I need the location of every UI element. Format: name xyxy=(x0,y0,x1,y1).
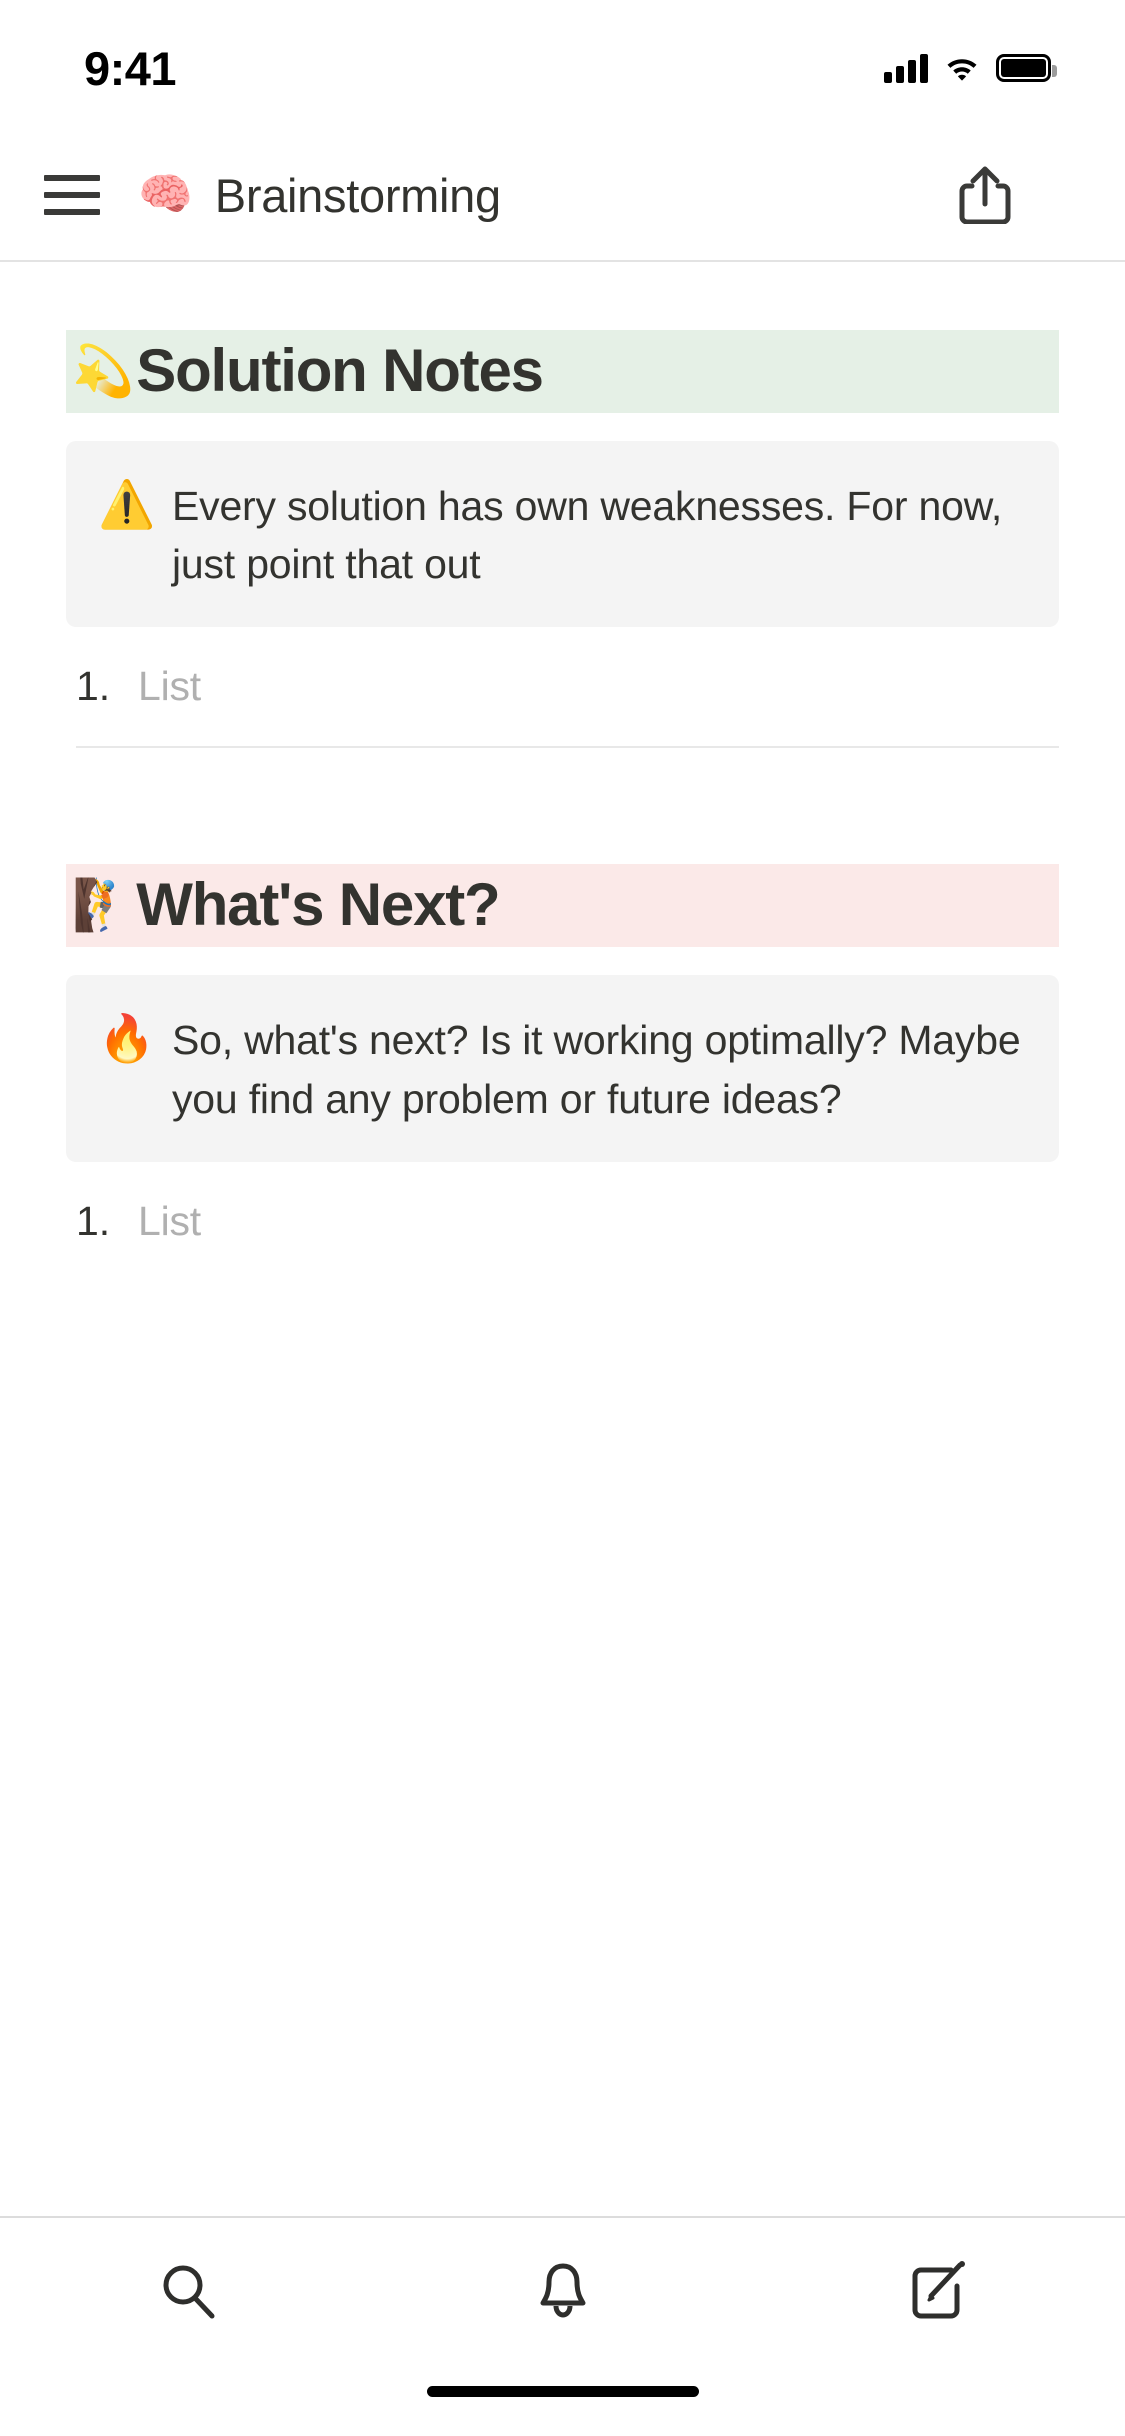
bottom-toolbar xyxy=(0,2216,1125,2368)
section-heading[interactable]: 🧗 What's Next? xyxy=(66,856,1059,957)
search-button[interactable] xyxy=(0,2218,375,2368)
warning-icon: ⚠️ xyxy=(98,475,172,534)
list-placeholder: List xyxy=(138,663,201,710)
document-section: 💫 Solution Notes ⚠️ Every solution has o… xyxy=(66,322,1059,748)
heading-highlight: 💫 Solution Notes xyxy=(66,330,1059,413)
battery-full-icon xyxy=(996,54,1051,82)
list-number: 1. xyxy=(76,663,138,710)
hamburger-menu-icon[interactable] xyxy=(40,163,104,227)
section-heading[interactable]: 💫 Solution Notes xyxy=(66,322,1059,423)
phone-screen: 9:41 🧠 Brainstorming xyxy=(0,0,1125,2436)
wifi-icon xyxy=(944,54,980,82)
fire-icon: 🔥 xyxy=(98,1009,172,1068)
app-header: 🧠 Brainstorming xyxy=(0,130,1125,262)
callout-block[interactable]: 🔥 So, what's next? Is it working optimal… xyxy=(66,975,1059,1161)
document-section: 🧗 What's Next? 🔥 So, what's next? Is it … xyxy=(66,856,1059,1274)
heading-text: What's Next? xyxy=(136,870,499,939)
notifications-button[interactable] xyxy=(375,2218,750,2368)
compose-icon xyxy=(908,2260,968,2327)
callout-text: So, what's next? Is it working optimally… xyxy=(172,1009,1029,1127)
list-number: 1. xyxy=(76,1198,138,1245)
compose-button[interactable] xyxy=(750,2218,1125,2368)
page-title: Brainstorming xyxy=(215,168,501,223)
status-indicators xyxy=(884,47,1051,83)
callout-block[interactable]: ⚠️ Every solution has own weaknesses. Fo… xyxy=(66,441,1059,627)
status-bar: 9:41 xyxy=(0,0,1125,130)
home-indicator-area xyxy=(0,2368,1125,2436)
climber-icon: 🧗 xyxy=(72,880,134,930)
numbered-list-item[interactable]: 1. List xyxy=(66,1162,1059,1275)
search-icon xyxy=(158,2261,218,2326)
heading-text: Solution Notes xyxy=(136,336,543,405)
document-body: 💫 Solution Notes ⚠️ Every solution has o… xyxy=(0,262,1125,2216)
bell-icon xyxy=(535,2260,591,2327)
brain-icon: 🧠 xyxy=(138,173,193,217)
numbered-list-item[interactable]: 1. List xyxy=(66,627,1059,740)
list-placeholder: List xyxy=(138,1198,201,1245)
cellular-signal-icon xyxy=(884,53,928,83)
callout-text: Every solution has own weaknesses. For n… xyxy=(172,475,1029,593)
sparkle-icon: 💫 xyxy=(72,346,134,396)
home-indicator[interactable] xyxy=(427,2386,699,2397)
heading-highlight: 🧗 What's Next? xyxy=(66,864,1059,947)
document-title-group[interactable]: 🧠 Brainstorming xyxy=(138,168,947,223)
status-time: 9:41 xyxy=(84,39,176,92)
share-icon[interactable] xyxy=(947,157,1023,233)
